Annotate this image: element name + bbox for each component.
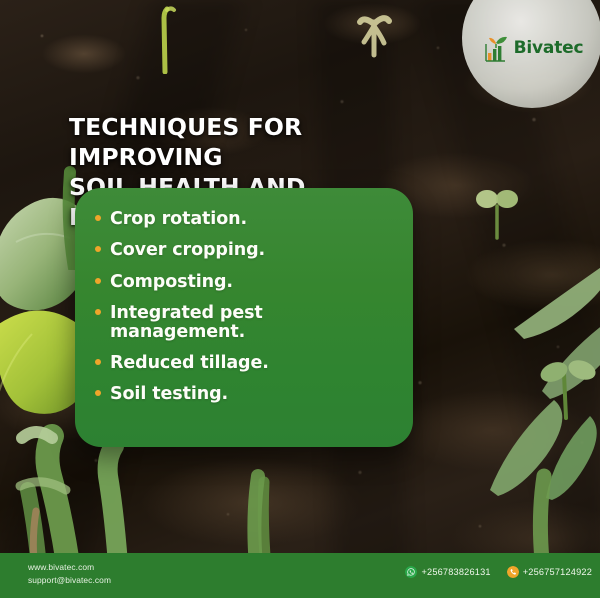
footer-phone-block: +256783826131 +256757124922 [405, 566, 592, 578]
whatsapp-contact[interactable]: +256783826131 [405, 566, 490, 578]
bullet-dot-icon [95, 390, 101, 396]
phone-contact[interactable]: +256757124922 [507, 566, 592, 578]
seedling-bottom-far-right-icon [508, 452, 588, 562]
footer-website[interactable]: www.bivatec.com [28, 561, 111, 574]
sprout-top-center-icon [150, 4, 180, 74]
list-item: Composting. [95, 273, 391, 291]
sprout-top-right-cluster-icon [348, 0, 406, 58]
list-item-label: Crop rotation. [110, 210, 247, 228]
footer-email[interactable]: support@bivatec.com [28, 574, 111, 587]
list-item-label: Integrated pest management. [110, 304, 391, 341]
bullet-dot-icon [95, 278, 101, 284]
list-item-label: Cover cropping. [110, 241, 265, 259]
logo-wordmark: Bivatec [514, 38, 584, 58]
whatsapp-icon [405, 566, 417, 578]
list-item: Integrated pest management. [95, 304, 391, 341]
whatsapp-number: +256783826131 [421, 567, 490, 577]
techniques-list: Crop rotation. Cover cropping. Compostin… [95, 210, 391, 404]
footer-contact-block: www.bivatec.com support@bivatec.com [28, 561, 111, 587]
phone-number: +256757124922 [523, 567, 592, 577]
list-item: Reduced tillage. [95, 354, 391, 372]
list-item: Soil testing. [95, 385, 391, 403]
bullet-dot-icon [95, 359, 101, 365]
page-title-line-1: TECHNIQUES FOR IMPROVING [69, 113, 302, 171]
seedling-right-twin-icon [470, 180, 524, 240]
bar-chart-sprout-icon [485, 34, 511, 62]
bullet-dot-icon [95, 309, 101, 315]
phone-icon [507, 566, 519, 578]
seedling-bottom-left2-icon [78, 436, 168, 566]
poster-canvas: Bivatec TECHNIQUES FOR IMPROVING SOIL HE… [0, 0, 600, 598]
list-item-label: Reduced tillage. [110, 354, 269, 372]
logo-lockup: Bivatec [485, 34, 584, 62]
list-item: Cover cropping. [95, 241, 391, 259]
techniques-card: Crop rotation. Cover cropping. Compostin… [75, 188, 413, 447]
bullet-dot-icon [95, 215, 101, 221]
list-item: Crop rotation. [95, 210, 391, 228]
list-item-label: Composting. [110, 273, 233, 291]
list-item-label: Soil testing. [110, 385, 228, 403]
bullet-dot-icon [95, 246, 101, 252]
footer-bar: www.bivatec.com support@bivatec.com +256… [0, 553, 600, 598]
seedling-bottom-right-icon [236, 448, 306, 568]
